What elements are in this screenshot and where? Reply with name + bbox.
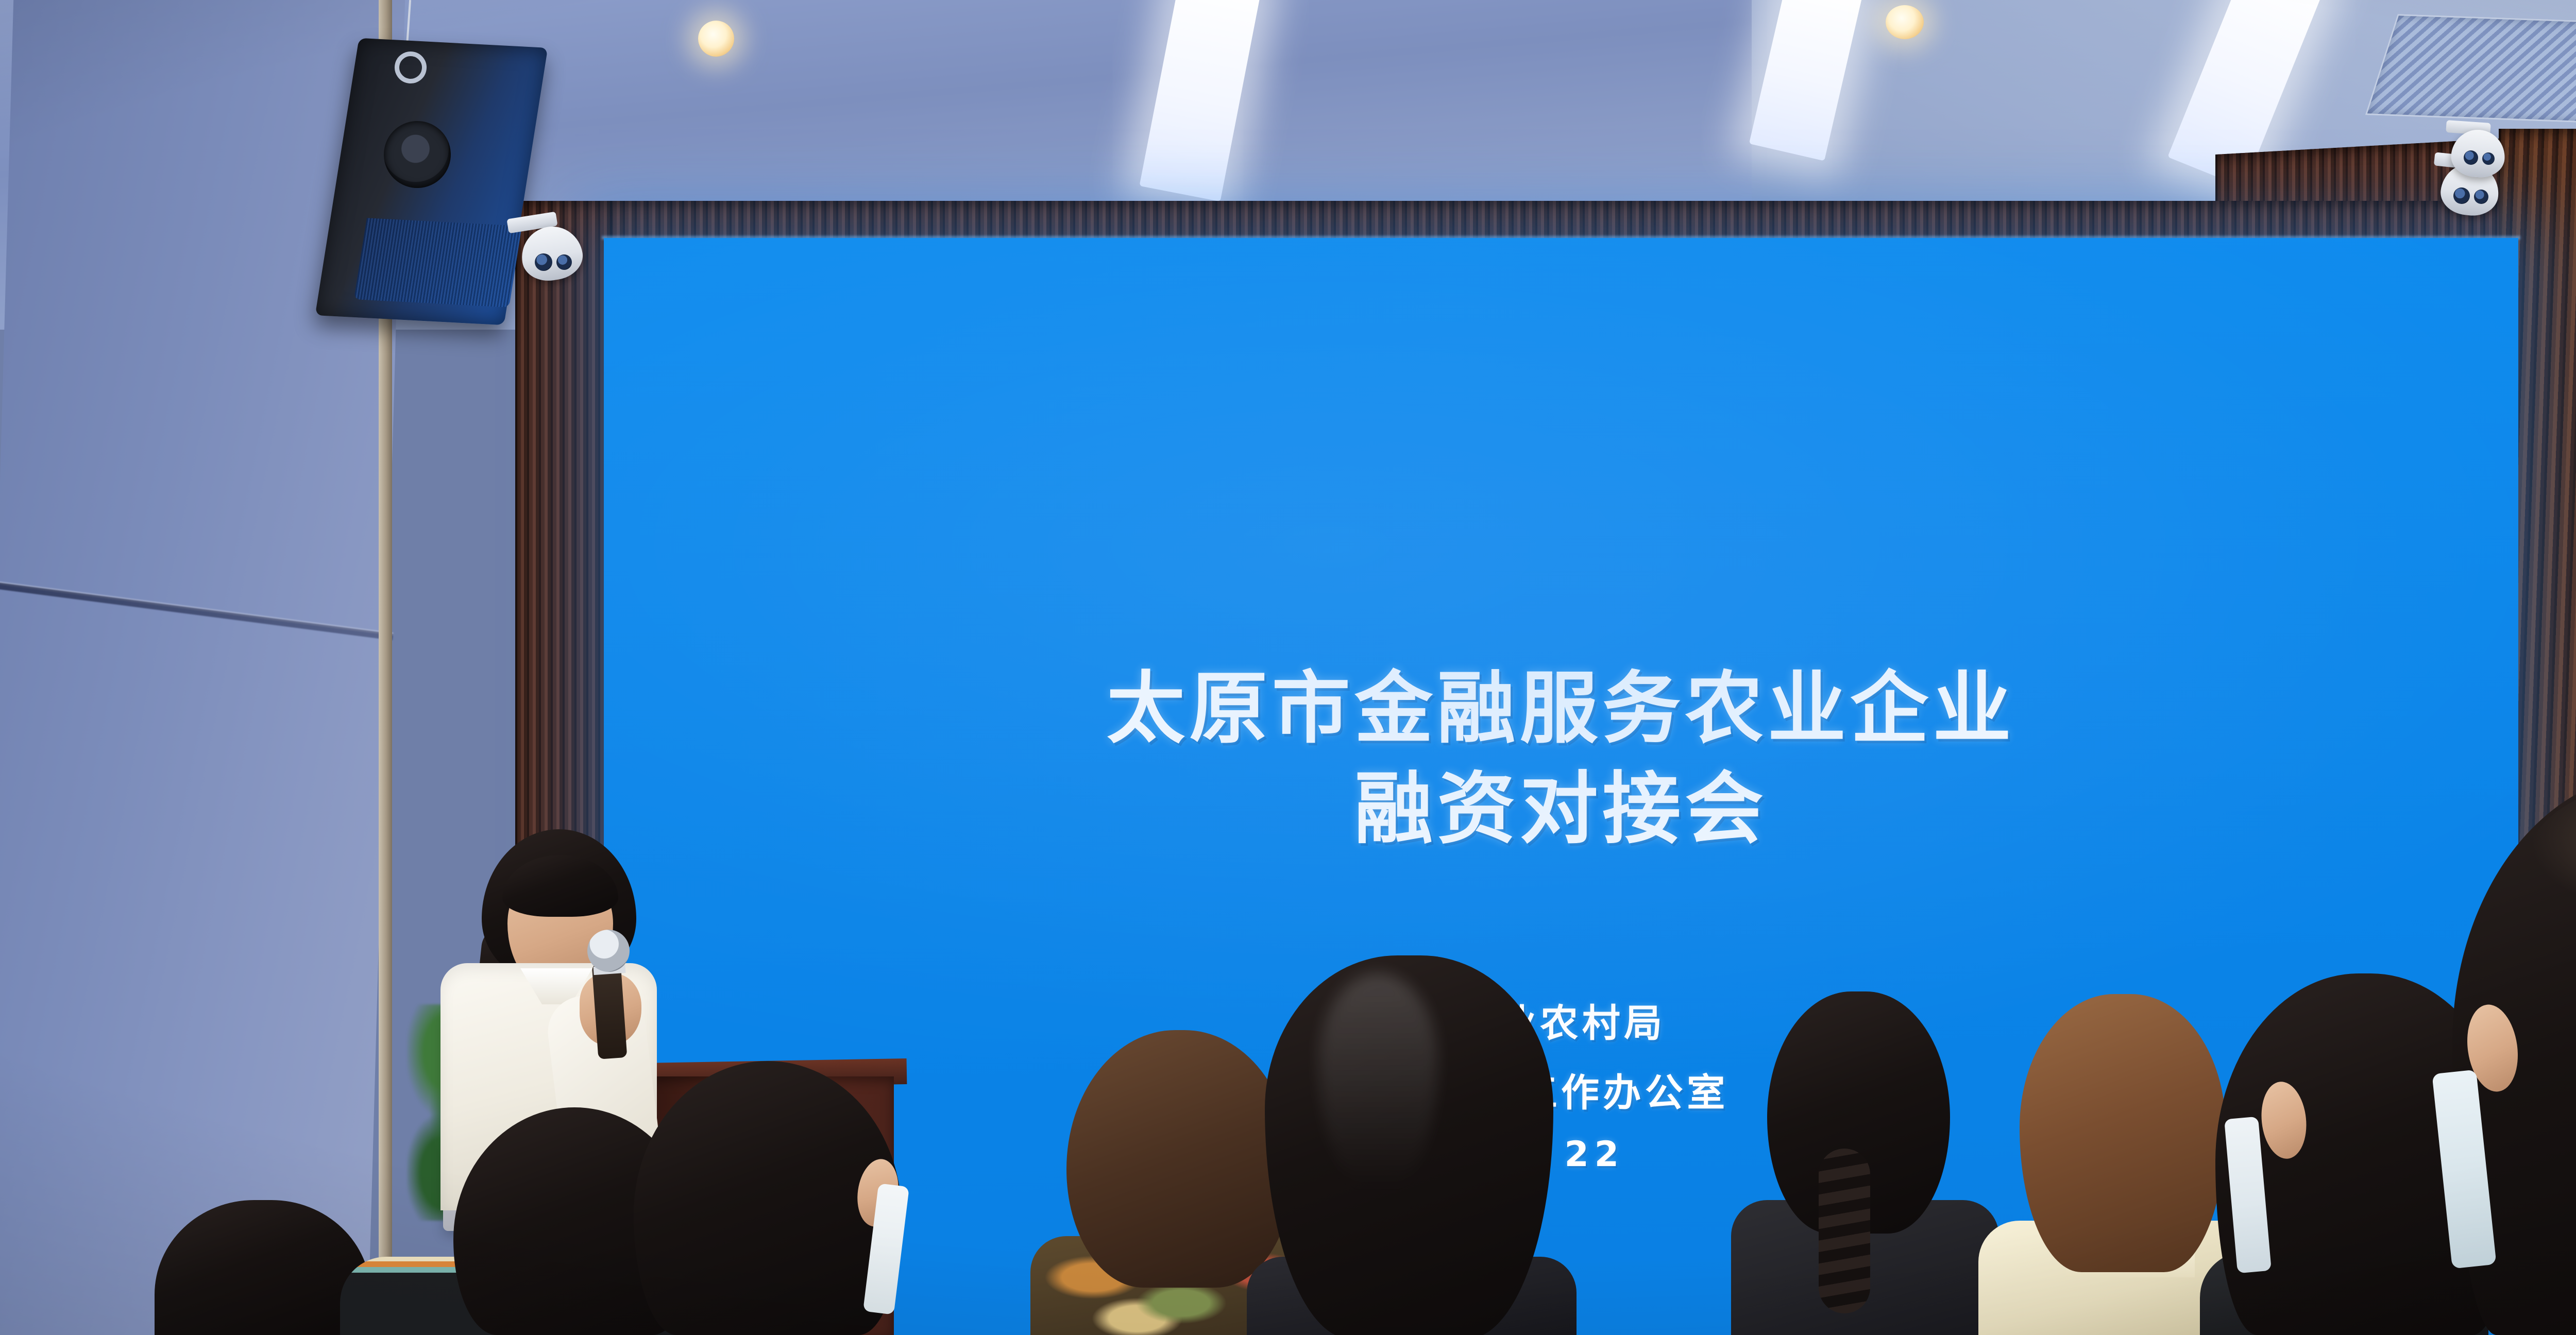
ceiling-air-vent — [2365, 14, 2576, 123]
ceiling-downlight — [1886, 5, 1924, 39]
ceiling-downlight — [698, 21, 734, 57]
audience-4-hair-highlight — [1319, 973, 1437, 1190]
camera-lens-icon — [2453, 187, 2470, 204]
slide-title-line-1: 太原市金融服务农业企业 — [604, 645, 2518, 758]
microphone-icon — [587, 930, 630, 972]
conference-photo-scene: 太原市金融服务农业企业 融资对接会 农业农村局 府金融工作办公室 9. 22 — [0, 0, 2576, 1335]
camera-lens-icon — [556, 254, 572, 270]
audience-6-hair — [2020, 994, 2226, 1272]
slide-title-line-2: 融资对接会 — [604, 745, 2518, 859]
speaker-grille-left — [354, 218, 522, 307]
slide-subtitle-line-1: 农业农村局 — [604, 992, 2518, 1048]
audience-3-hair — [1066, 1030, 1293, 1288]
camera-lens-icon — [2464, 150, 2478, 165]
camera-lens-icon — [2474, 190, 2488, 204]
audience-5-braid — [1819, 1149, 1870, 1313]
camera-lens-icon — [2482, 152, 2495, 165]
camera-lens-icon — [535, 253, 552, 271]
